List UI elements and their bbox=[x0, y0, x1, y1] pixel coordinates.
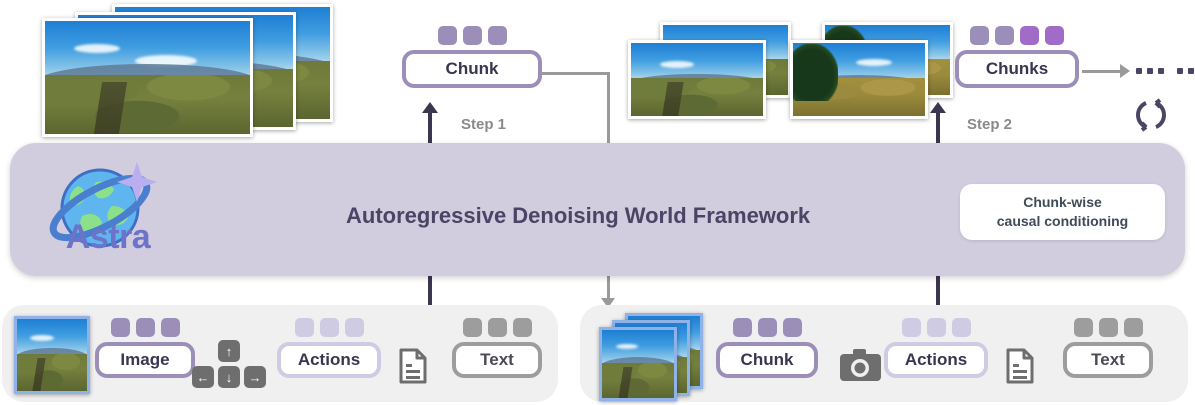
chunks-token-squares bbox=[955, 26, 1079, 45]
step2-label: Step 2 bbox=[967, 116, 1012, 133]
token-square bbox=[488, 318, 507, 337]
chunk-wise-conditioning-note: Chunk-wise causal conditioning bbox=[960, 184, 1165, 240]
token-square bbox=[513, 318, 532, 337]
chunk-token-squares bbox=[402, 26, 542, 45]
astra-wordmark: Astra bbox=[38, 218, 178, 257]
token-square bbox=[1124, 318, 1143, 337]
document-icon-right bbox=[1005, 348, 1035, 384]
diagram-canvas: Chunk Step 1 bbox=[0, 0, 1195, 405]
input-photo-1 bbox=[42, 18, 253, 137]
token-square bbox=[1074, 318, 1093, 337]
step2-chunks-token-group: Chunks bbox=[955, 26, 1079, 88]
chunk-route-horizontal bbox=[540, 72, 610, 75]
token-square bbox=[111, 318, 130, 337]
chunk-pill-right[interactable]: Chunk bbox=[716, 342, 818, 378]
token-square bbox=[1099, 318, 1118, 337]
refresh-cycle-icon bbox=[1129, 96, 1173, 134]
document-icon-left bbox=[398, 348, 428, 384]
generated-photo-2a bbox=[790, 40, 928, 119]
token-square bbox=[733, 318, 752, 337]
text-pill-right[interactable]: Text bbox=[1063, 342, 1153, 378]
thumb-stack-1 bbox=[599, 327, 677, 401]
token-square bbox=[320, 318, 339, 337]
token-square bbox=[952, 318, 971, 337]
actions-token-squares bbox=[277, 318, 381, 337]
token-square bbox=[463, 318, 482, 337]
dot bbox=[1177, 68, 1183, 74]
key-up-icon[interactable]: ↑ bbox=[218, 340, 240, 362]
key-right-icon[interactable]: → bbox=[244, 366, 266, 388]
ellipsis-dots bbox=[1136, 68, 1195, 74]
token-square bbox=[161, 318, 180, 337]
note-line-1: Chunk-wise bbox=[1023, 193, 1102, 212]
step1-chunk-token-group: Chunk bbox=[402, 26, 542, 88]
note-line-2: causal conditioning bbox=[997, 212, 1128, 231]
astra-logo: Astra bbox=[38, 156, 178, 266]
token-square bbox=[136, 318, 155, 337]
token-square bbox=[970, 26, 989, 45]
dot bbox=[1158, 68, 1164, 74]
actions-pill-left[interactable]: Actions bbox=[277, 342, 381, 378]
actions-token-squares-right bbox=[884, 318, 988, 337]
chunk-token-group-right: Chunk bbox=[716, 318, 818, 378]
token-square-active bbox=[1045, 26, 1064, 45]
input-thumbnail-left[interactable] bbox=[14, 316, 90, 394]
step1-arrowhead bbox=[422, 102, 438, 113]
text-token-squares-right bbox=[1063, 318, 1153, 337]
camera-icon bbox=[839, 348, 883, 382]
token-square bbox=[995, 26, 1014, 45]
actions-token-group-left: Actions bbox=[277, 318, 381, 378]
token-square bbox=[927, 318, 946, 337]
banner-title: Autoregressive Denoising World Framework bbox=[346, 203, 810, 229]
token-square bbox=[783, 318, 802, 337]
token-square-active bbox=[1020, 26, 1039, 45]
token-square bbox=[438, 26, 457, 45]
text-token-group-right: Text bbox=[1063, 318, 1153, 378]
chunks-pill-step2[interactable]: Chunks bbox=[955, 50, 1079, 88]
continue-arrow-line bbox=[1082, 70, 1122, 73]
chunk-pill-step1[interactable]: Chunk bbox=[402, 50, 542, 88]
token-square bbox=[295, 318, 314, 337]
token-square bbox=[463, 26, 482, 45]
token-square bbox=[758, 318, 777, 337]
text-pill-left[interactable]: Text bbox=[452, 342, 542, 378]
key-left-icon[interactable]: ← bbox=[192, 366, 214, 388]
dot bbox=[1136, 68, 1142, 74]
token-square bbox=[902, 318, 921, 337]
image-pill[interactable]: Image bbox=[95, 342, 195, 378]
step1-label: Step 1 bbox=[461, 116, 506, 133]
generated-photo-1a bbox=[628, 40, 766, 119]
step2-arrowhead bbox=[930, 102, 946, 113]
token-square bbox=[345, 318, 364, 337]
actions-pill-right[interactable]: Actions bbox=[884, 342, 988, 378]
dot bbox=[1188, 68, 1194, 74]
image-token-squares bbox=[95, 318, 195, 337]
text-token-group-left: Text bbox=[452, 318, 542, 378]
token-square bbox=[488, 26, 507, 45]
actions-token-group-right: Actions bbox=[884, 318, 988, 378]
image-token-group: Image bbox=[95, 318, 195, 378]
key-down-icon[interactable]: ↓ bbox=[218, 366, 240, 388]
continue-arrowhead bbox=[1120, 64, 1130, 78]
dot bbox=[1147, 68, 1153, 74]
chunk-token-squares-right bbox=[716, 318, 818, 337]
text-token-squares bbox=[452, 318, 542, 337]
